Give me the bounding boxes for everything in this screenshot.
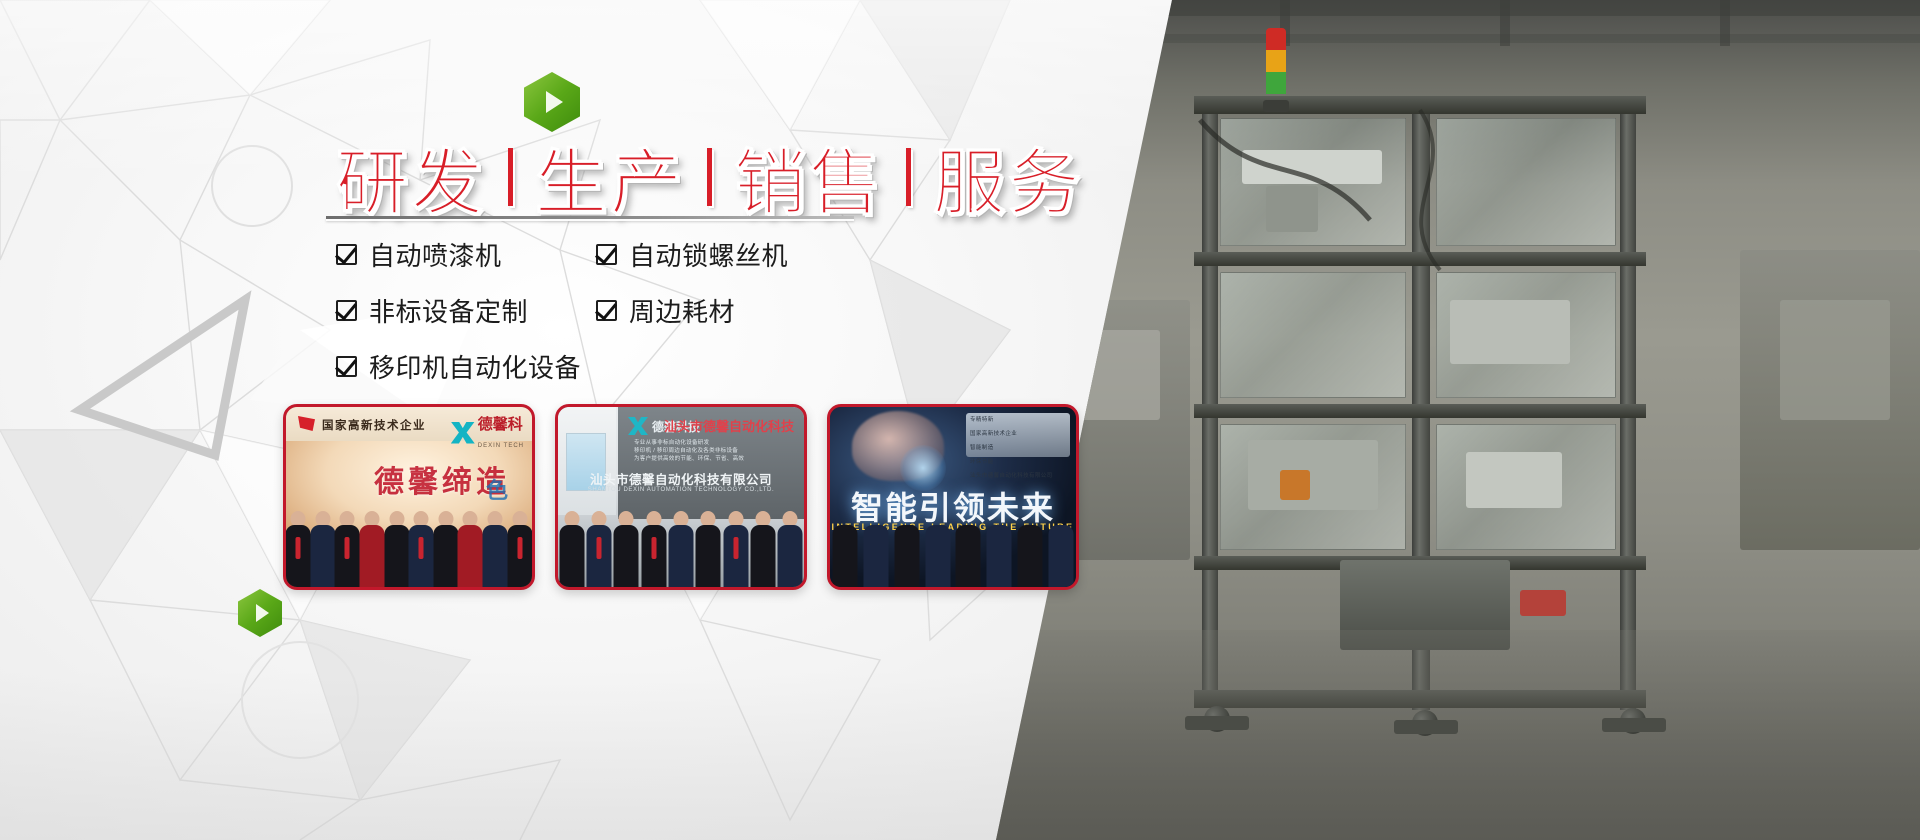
headline-divider [326, 216, 854, 219]
headline-separator-3 [906, 148, 911, 206]
headline-word-2: 生产 [523, 124, 697, 229]
card1-badge: 国家高新技术企业 [322, 417, 426, 433]
feature-label: 周边耗材 [629, 292, 735, 329]
feature-label: 自动锁螺丝机 [629, 236, 788, 273]
headline-word-1: 研发 [324, 124, 498, 229]
checkbox-checked-icon [596, 300, 617, 321]
headline-word-3: 销售 [722, 124, 896, 229]
card2-company-en: SHANTOU DEXIN AUTOMATION TECHNOLOGY CO.,… [588, 487, 774, 493]
card1-logo-cn: 德馨科 [478, 416, 523, 433]
feature-list: 自动喷漆机 自动锁螺丝机 非标设备定制 周边耗材 移印机自动化设备 [336, 236, 856, 385]
card2-company-cn: 汕头市德馨自动化科技有限公司 [590, 469, 772, 488]
checkbox-checked-icon [596, 244, 617, 265]
feature-label: 非标设备定制 [369, 292, 528, 329]
card1-accent: 色 [486, 473, 508, 505]
photo-card-certificate-team[interactable]: 国家高新技术企业 德馨科 DEXIN TECH 德馨缔造 色 [283, 404, 535, 590]
checkbox-checked-icon [336, 244, 357, 265]
feature-label: 移印机自动化设备 [369, 348, 581, 385]
card2-people-group [558, 503, 804, 587]
feature-item-5: 移印机自动化设备 [336, 348, 856, 385]
feature-item-3: 非标设备定制 [336, 292, 596, 329]
checkbox-checked-icon [336, 300, 357, 321]
feature-item-1: 自动喷漆机 [336, 236, 596, 273]
headline-separator-1 [508, 148, 513, 206]
card2-logo-red: 汕头市德馨自动化科技 [664, 416, 794, 435]
card1-logo-en: DEXIN TECH [478, 443, 524, 449]
card3-plaque: 专精特新 国家高新技术企业 智能制造 环保节能 汕头市德馨自动化科技有限公司 [966, 413, 1070, 457]
card3-people-group [830, 525, 1076, 587]
card2-fine-lines: 专业从事非标自动化设备研发 移印机 / 移印周边自动化及各类非标设备 为客户提供… [634, 439, 744, 463]
feature-item-2: 自动锁螺丝机 [596, 236, 856, 273]
dexin-x-logo-icon [628, 417, 648, 435]
checkbox-checked-icon [336, 356, 357, 377]
photo-card-booth-team[interactable]: 德馨科技 汕头市德馨自动化科技 专业从事非标自动化设备研发 移印机 / 移印周边… [555, 404, 807, 590]
card1-people-group [286, 503, 532, 587]
photo-card-gallery: 国家高新技术企业 德馨科 DEXIN TECH 德馨缔造 色 [283, 404, 1079, 590]
headline-word-4: 服务 [921, 124, 1095, 229]
page-title: 研发 生产 销售 服务 [324, 124, 1095, 229]
headline-separator-2 [707, 148, 712, 206]
feature-label: 自动喷漆机 [369, 236, 502, 273]
card1-logo: 德馨科 DEXIN TECH [451, 413, 524, 452]
dexin-x-logo-icon [451, 422, 475, 444]
feature-item-4: 周边耗材 [596, 292, 856, 329]
photo-card-intelligence-future[interactable]: 专精特新 国家高新技术企业 智能制造 环保节能 汕头市德馨自动化科技有限公司 智… [827, 404, 1079, 590]
banner-root: 研发 生产 销售 服务 自动喷漆机 自动锁螺丝机 非标设备定制 周边耗材 移印机… [0, 0, 1920, 840]
